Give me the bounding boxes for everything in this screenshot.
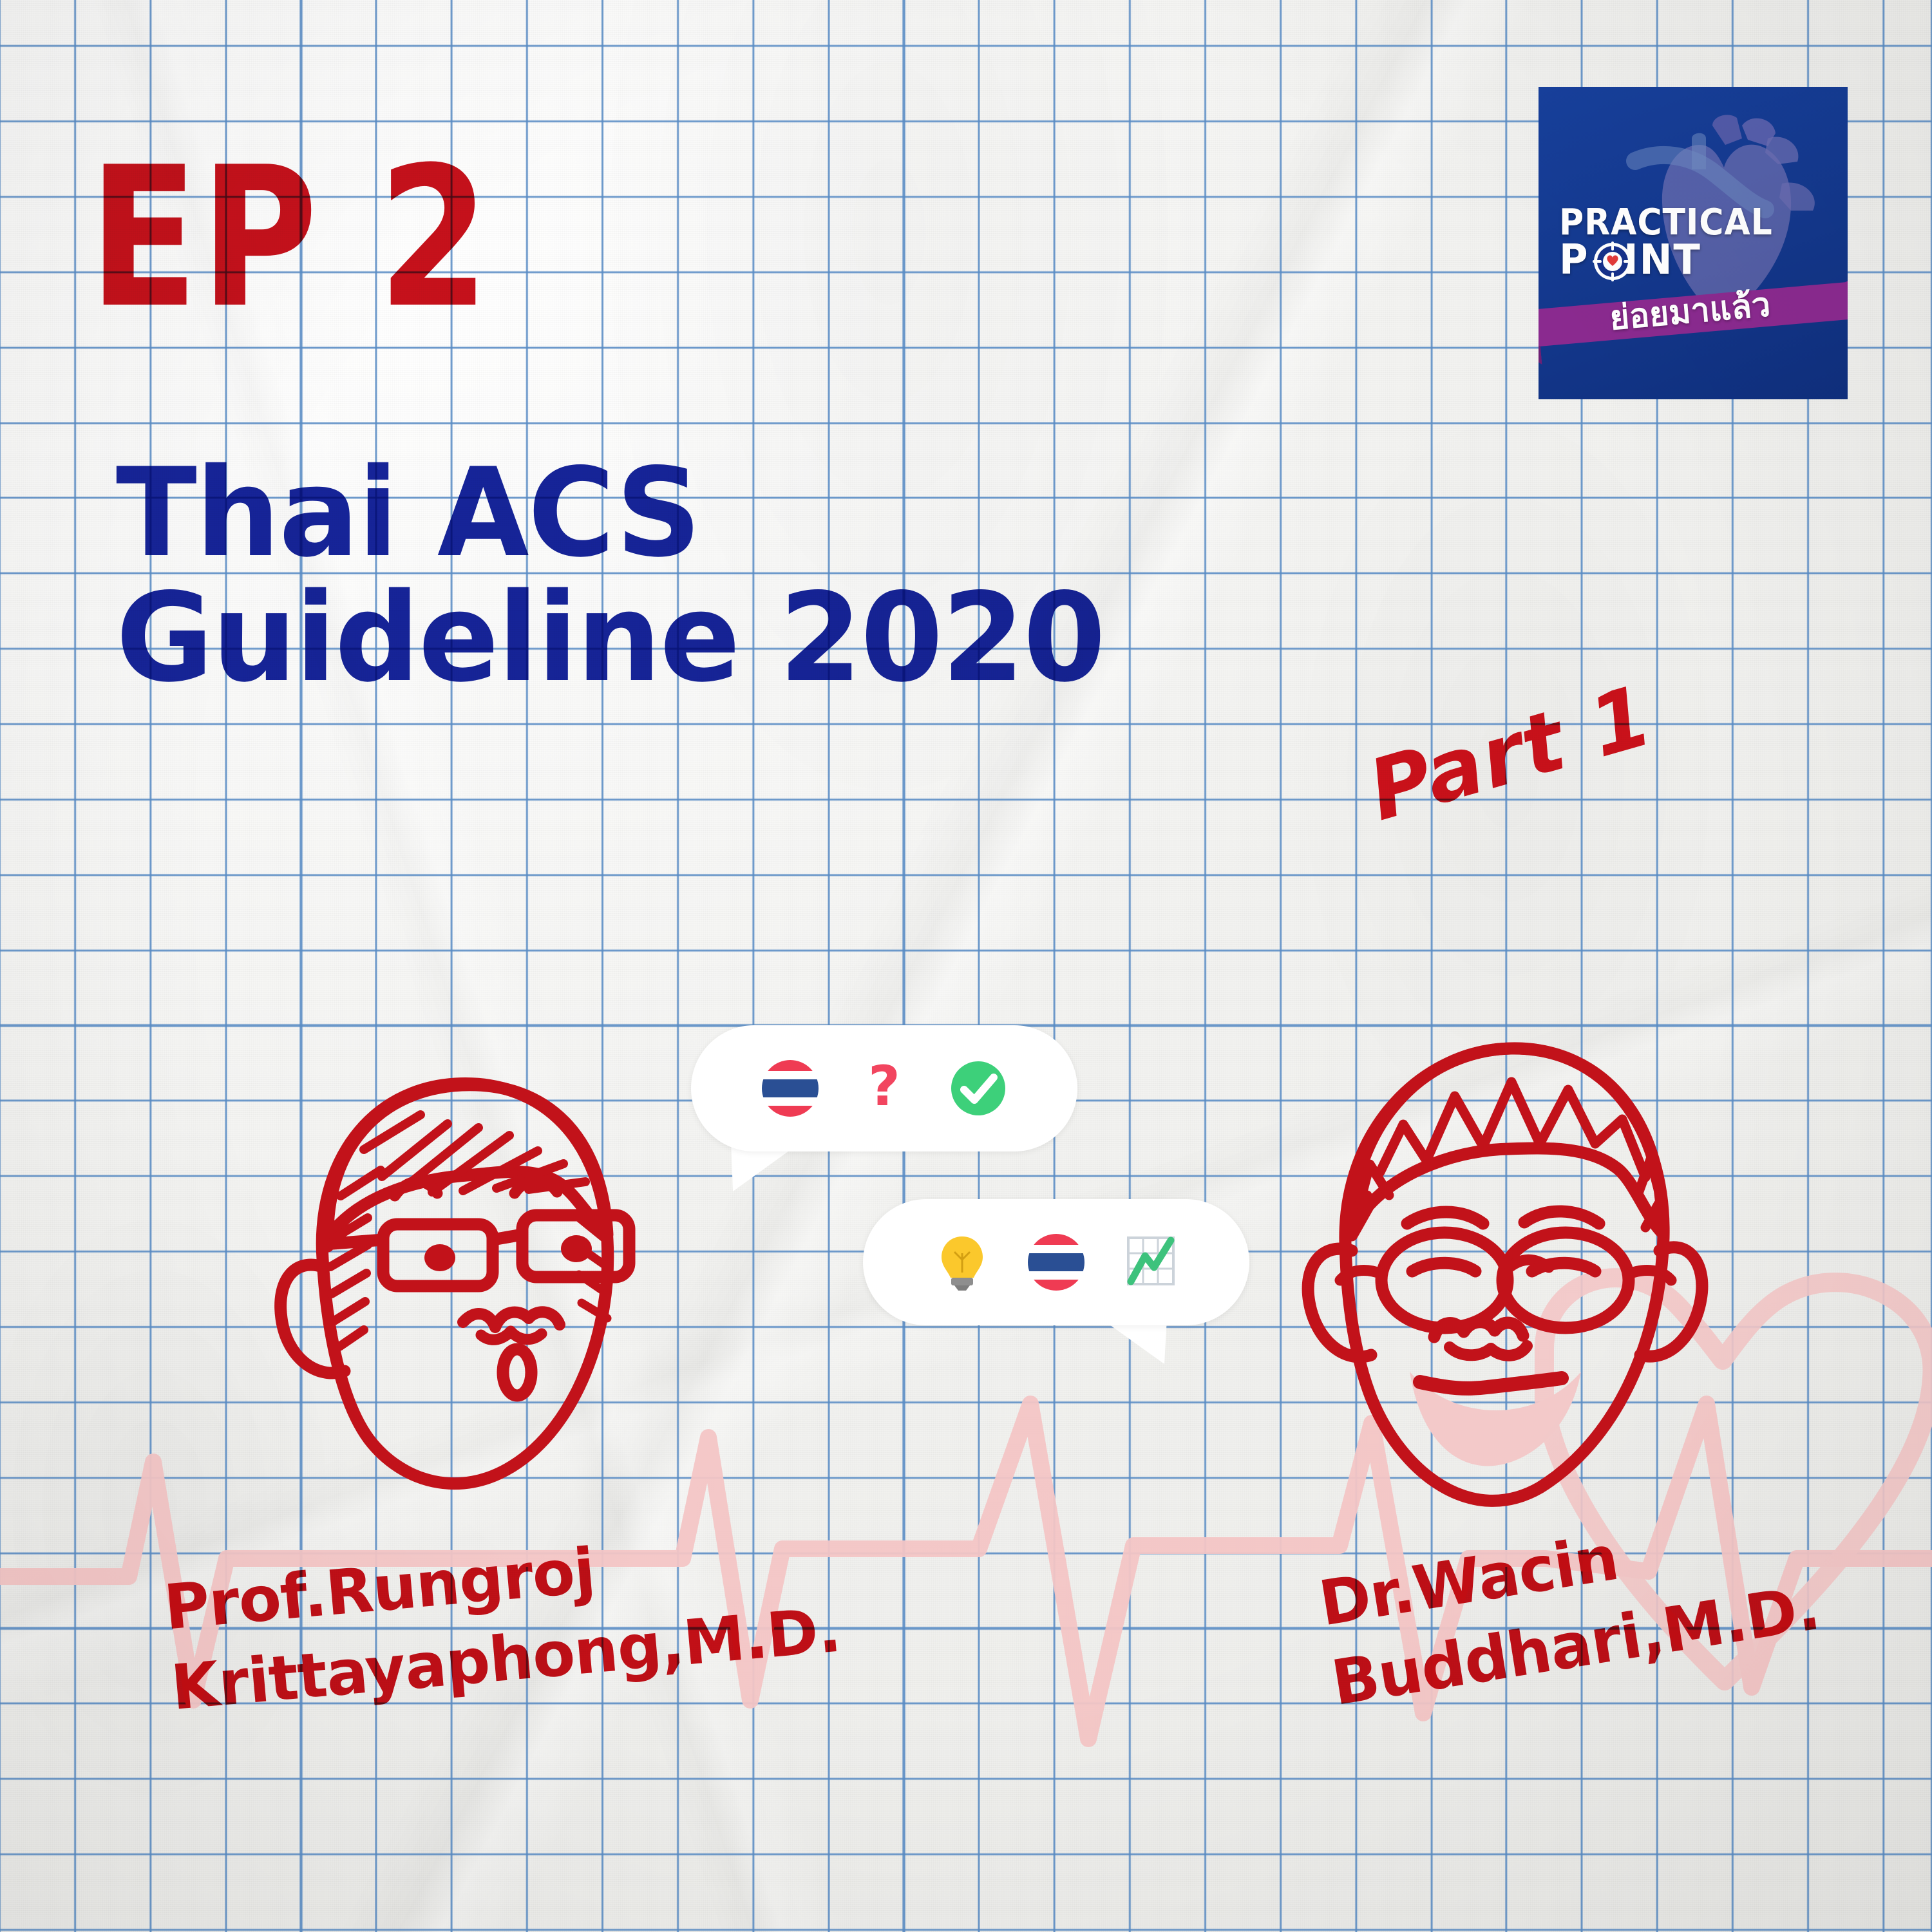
podcast-cover-poster: EP 2 Thai ACS Guideline 2020 Part 1 PRAC… [0, 0, 1932, 1932]
green-check-icon [946, 1056, 1010, 1121]
page-title: Thai ACS Guideline 2020 [116, 451, 1104, 701]
speaker-right-avatar [1298, 1011, 1710, 1539]
logo-point-int: INT [1624, 236, 1701, 284]
title-line-2: Guideline 2020 [116, 567, 1104, 709]
question-mark-icon: ? [852, 1056, 916, 1121]
speaker-left-avatar [254, 1027, 667, 1549]
target-heart-icon [1593, 241, 1633, 281]
speech-bubble-1: ? [691, 1025, 1077, 1151]
thai-flag-icon [1024, 1230, 1088, 1294]
lightbulb-icon [930, 1230, 994, 1294]
thai-flag-icon [758, 1056, 822, 1121]
episode-title: EP 2 [89, 149, 491, 327]
speech-bubble-2 [863, 1199, 1249, 1325]
title-line-1: Thai ACS [116, 442, 700, 584]
chart-increasing-icon [1118, 1230, 1182, 1294]
svg-text:?: ? [868, 1056, 900, 1119]
logo-point-p: P [1559, 236, 1589, 284]
brand-logo[interactable]: PRACTICAL POINT ย่อยมาแล้ว [1539, 87, 1848, 399]
